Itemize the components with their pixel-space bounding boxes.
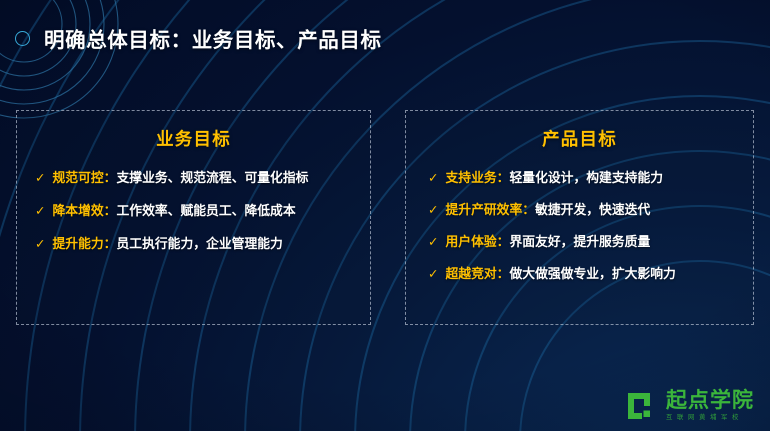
list-item-key: 提升能力：	[52, 233, 116, 252]
list-item: ✓ 用户体验： 界面友好，提升服务质量	[406, 231, 753, 250]
list-item: ✓ 支持业务： 轻量化设计，构建支持能力	[406, 167, 753, 186]
list-item-key: 提升产研效率：	[445, 199, 535, 218]
logo-name: 起点学院	[666, 390, 754, 412]
card-title: 产品目标	[406, 126, 753, 151]
list-item-value: 做大做强做专业，扩大影响力	[509, 263, 675, 282]
card-title: 业务目标	[17, 126, 370, 151]
bullet-list: ✓ 支持业务： 轻量化设计，构建支持能力 ✓ 提升产研效率： 敏捷开发，快速迭代…	[406, 167, 753, 282]
logo-text: 起点学院 互联网黄埔军校	[666, 390, 754, 421]
check-icon: ✓	[35, 238, 45, 251]
check-icon: ✓	[428, 236, 438, 249]
check-icon: ✓	[35, 205, 45, 218]
list-item: ✓ 提升产研效率： 敏捷开发，快速迭代	[406, 199, 753, 218]
slide-canvas: 明确总体目标：业务目标、产品目标 业务目标 ✓ 规范可控： 支撑业务、规范流程、…	[0, 0, 770, 431]
list-item: ✓ 规范可控： 支撑业务、规范流程、可量化指标	[17, 167, 370, 186]
list-item-value: 敏捷开发，快速迭代	[535, 199, 650, 218]
list-item-value: 界面友好，提升服务质量	[509, 231, 650, 250]
list-item-key: 支持业务：	[445, 167, 509, 186]
card-business-goals: 业务目标 ✓ 规范可控： 支撑业务、规范流程、可量化指标 ✓ 降本增效： 工作效…	[16, 110, 371, 325]
qidian-q-mark-icon	[624, 389, 658, 423]
list-item-value: 员工执行能力，企业管理能力	[116, 233, 282, 252]
brand-logo: 起点学院 互联网黄埔军校	[624, 389, 754, 423]
list-item-key: 用户体验：	[445, 231, 509, 250]
list-item-value: 轻量化设计，构建支持能力	[509, 167, 663, 186]
check-icon: ✓	[428, 204, 438, 217]
list-item: ✓ 超越竞对： 做大做强做专业，扩大影响力	[406, 263, 753, 282]
list-item-value: 支撑业务、规范流程、可量化指标	[116, 167, 308, 186]
logo-subtitle: 互联网黄埔军校	[666, 415, 754, 421]
card-product-goals: 产品目标 ✓ 支持业务： 轻量化设计，构建支持能力 ✓ 提升产研效率： 敏捷开发…	[405, 110, 754, 325]
list-item-key: 降本增效：	[52, 200, 116, 219]
list-item-value: 工作效率、赋能员工、降低成本	[116, 200, 295, 219]
check-icon: ✓	[428, 172, 438, 185]
list-item-key: 规范可控：	[52, 167, 116, 186]
circle-outline-icon	[15, 31, 30, 46]
list-item-key: 超越竞对：	[445, 263, 509, 282]
list-item: ✓ 提升能力： 员工执行能力，企业管理能力	[17, 233, 370, 252]
bullet-list: ✓ 规范可控： 支撑业务、规范流程、可量化指标 ✓ 降本增效： 工作效率、赋能员…	[17, 167, 370, 252]
list-item: ✓ 降本增效： 工作效率、赋能员工、降低成本	[17, 200, 370, 219]
page-header: 明确总体目标：业务目标、产品目标	[0, 18, 382, 58]
check-icon: ✓	[428, 268, 438, 281]
check-icon: ✓	[35, 172, 45, 185]
page-title: 明确总体目标：业务目标、产品目标	[44, 23, 382, 53]
